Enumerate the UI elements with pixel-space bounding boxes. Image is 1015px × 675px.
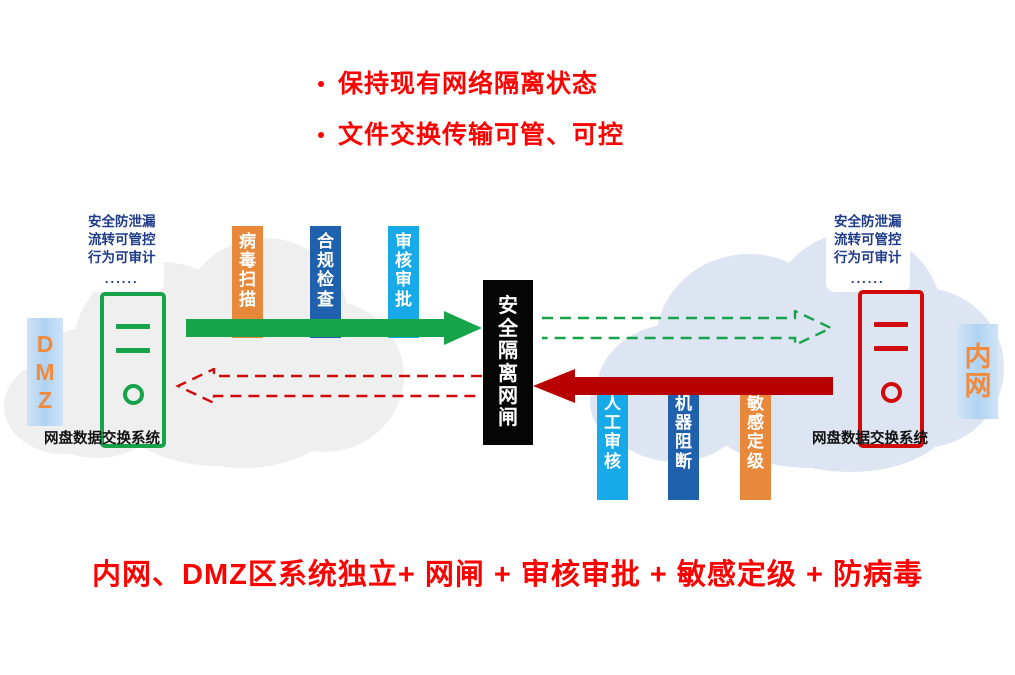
control-box-sensitivity-grading: 敏 感 定 级 xyxy=(740,388,771,500)
bullet-item-2: 文件交换传输可管、可控 xyxy=(318,123,798,148)
control-approval-char-2: 核 xyxy=(395,251,412,270)
zone-intranet-char-1: 内 xyxy=(965,343,992,371)
control-block-char-3: 阻 xyxy=(675,432,692,451)
flow-arrow-gateway-to-dmz xyxy=(172,368,482,404)
gateway-char-2: 全 xyxy=(498,318,518,340)
control-virus-char-1: 病 xyxy=(239,232,256,251)
bullet-dot-icon xyxy=(318,81,324,87)
gateway-char-3: 隔 xyxy=(498,340,518,362)
control-compliance-char-4: 查 xyxy=(317,290,334,309)
server-bar-icon xyxy=(874,346,908,351)
control-block-char-2: 器 xyxy=(675,413,692,432)
zone-label-intranet: 内 网 xyxy=(958,324,998,419)
control-classify-char-3: 定 xyxy=(747,432,764,451)
diagram-canvas: 保持现有网络隔离状态 文件交换传输可管、可控 D M Z 内 网 xyxy=(0,0,1015,675)
bullet-item-1: 保持现有网络隔离状态 xyxy=(318,72,798,97)
security-gateway-box: 安 全 隔 离 网 闸 xyxy=(483,280,533,445)
callout-left-line-2: 流转可管控 xyxy=(88,231,156,249)
callout-right-line-3: 行为可审计 xyxy=(834,249,902,267)
flow-arrow-intranet-to-gateway xyxy=(533,369,833,403)
bullet-text-1: 保持现有网络隔离状态 xyxy=(338,72,598,97)
bullet-list: 保持现有网络隔离状态 文件交换传输可管、可控 xyxy=(318,72,798,174)
bullet-text-2: 文件交换传输可管、可控 xyxy=(338,123,624,148)
zone-label-dmz: D M Z xyxy=(27,318,63,426)
control-manual-char-4: 核 xyxy=(604,452,621,471)
gateway-char-1: 安 xyxy=(498,295,518,317)
callout-right-line-2: 流转可管控 xyxy=(834,231,902,249)
power-button-icon xyxy=(123,384,144,405)
server-icon-intranet xyxy=(858,290,924,448)
control-virus-char-4: 描 xyxy=(239,290,256,309)
control-approval-char-4: 批 xyxy=(395,290,412,309)
control-classify-char-4: 级 xyxy=(747,452,764,471)
control-compliance-char-3: 检 xyxy=(317,270,334,289)
zone-intranet-char-2: 网 xyxy=(965,372,992,400)
gateway-char-5: 网 xyxy=(498,385,518,407)
control-virus-char-2: 毒 xyxy=(239,251,256,270)
control-box-machine-block: 机 器 阻 断 xyxy=(668,388,699,500)
callout-right-line-1: 安全防泄漏 xyxy=(834,213,902,231)
callout-right-ellipsis: ...... xyxy=(834,270,902,287)
gateway-char-6: 闸 xyxy=(498,407,518,429)
control-classify-char-2: 感 xyxy=(747,413,764,432)
flow-arrow-gateway-to-intranet xyxy=(542,310,836,346)
server-icon-dmz xyxy=(100,292,166,448)
server-bar-icon xyxy=(116,348,150,353)
control-approval-char-1: 审 xyxy=(395,232,412,251)
control-block-char-4: 断 xyxy=(675,452,692,471)
power-button-icon xyxy=(881,382,902,403)
control-approval-char-3: 审 xyxy=(395,270,412,289)
server-bar-icon xyxy=(874,322,908,327)
control-virus-char-3: 扫 xyxy=(239,270,256,289)
callout-left-line-1: 安全防泄漏 xyxy=(88,213,156,231)
server-bar-icon xyxy=(116,324,150,329)
zone-dmz-char-2: M xyxy=(35,358,54,386)
control-compliance-char-2: 规 xyxy=(317,251,334,270)
control-compliance-char-1: 合 xyxy=(317,232,334,251)
server-label-dmz: 网盘数据交换系统 xyxy=(44,427,160,448)
control-box-manual-review: 人 工 审 核 xyxy=(597,388,628,500)
flow-arrow-dmz-to-gateway xyxy=(186,311,482,345)
control-manual-char-2: 工 xyxy=(604,413,621,432)
bullet-dot-icon xyxy=(318,132,324,138)
summary-headline: 内网、DMZ区系统独立+ 网闸 + 审核审批 + 敏感定级 + 防病毒 xyxy=(0,551,1015,593)
intranet-cloud-shape xyxy=(590,232,1010,472)
server-label-intranet: 网盘数据交换系统 xyxy=(812,427,928,448)
control-manual-char-3: 审 xyxy=(604,432,621,451)
gateway-char-4: 离 xyxy=(498,363,518,385)
callout-left-ellipsis: ...... xyxy=(88,270,156,287)
callout-left-line-3: 行为可审计 xyxy=(88,249,156,267)
zone-dmz-char-1: D xyxy=(37,330,54,358)
callout-dmz-capabilities: 安全防泄漏 流转可管控 行为可审计 ...... xyxy=(80,207,164,292)
zone-dmz-char-3: Z xyxy=(38,386,52,414)
callout-intranet-capabilities: 安全防泄漏 流转可管控 行为可审计 ...... xyxy=(826,207,910,292)
